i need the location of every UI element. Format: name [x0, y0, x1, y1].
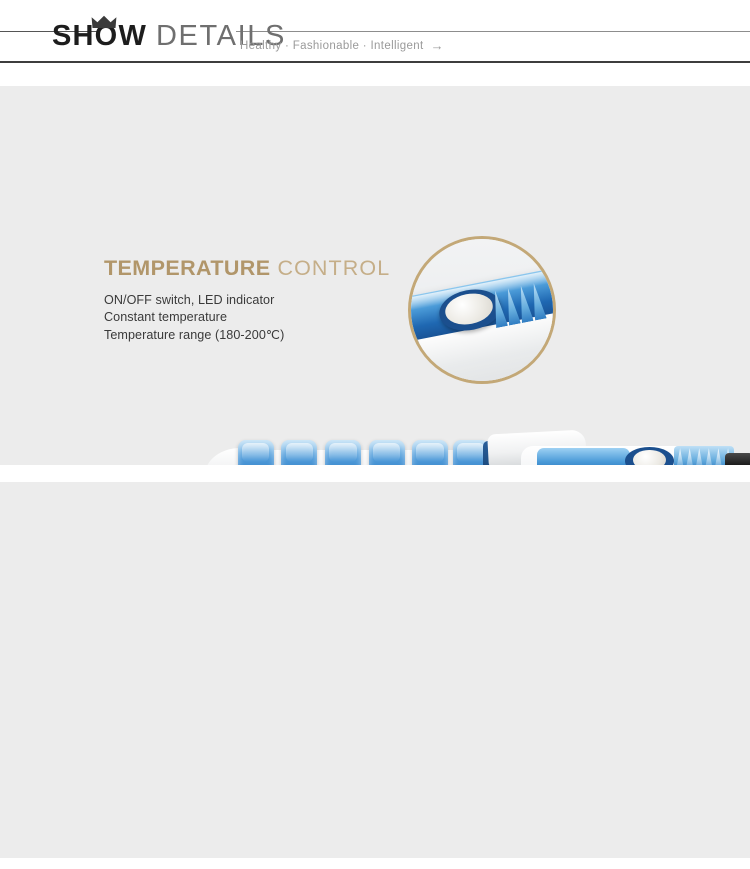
- temperature-body-text: ON/OFF switch, LED indicator Constant te…: [104, 292, 390, 345]
- temperature-text-block: TEMPERATURECONTROL ON/OFF switch, LED in…: [104, 258, 390, 344]
- temperature-heading-strong: TEMPERATURE: [104, 256, 270, 280]
- product-image-full-curler: [205, 416, 750, 465]
- arrow-right-icon: →: [431, 39, 444, 52]
- temperature-heading: TEMPERATURECONTROL: [104, 258, 390, 280]
- page-header: SHOW DETAILS Healthy · Fashionable · Int…: [0, 0, 750, 63]
- tagline-text: Healthy · Fashionable · Intelligent: [240, 40, 424, 52]
- closeup-illustration: [411, 239, 553, 381]
- header-bottom-rule: [0, 61, 750, 63]
- header-rule-right: [236, 31, 750, 32]
- power-cord: [725, 453, 750, 465]
- section-spiral-and-ptc: SPIRALDESIGN Spiral design heat up the h…: [0, 482, 750, 858]
- crown-icon: [91, 15, 117, 29]
- product-detail-page: SHOW DETAILS Healthy · Fashionable · Int…: [0, 0, 750, 869]
- power-button-closeup-image: [408, 236, 556, 384]
- section-temperature-control: TEMPERATURECONTROL ON/OFF switch, LED in…: [0, 86, 750, 465]
- header-tagline: Healthy · Fashionable · Intelligent →: [240, 39, 444, 52]
- temperature-heading-light: CONTROL: [277, 256, 390, 280]
